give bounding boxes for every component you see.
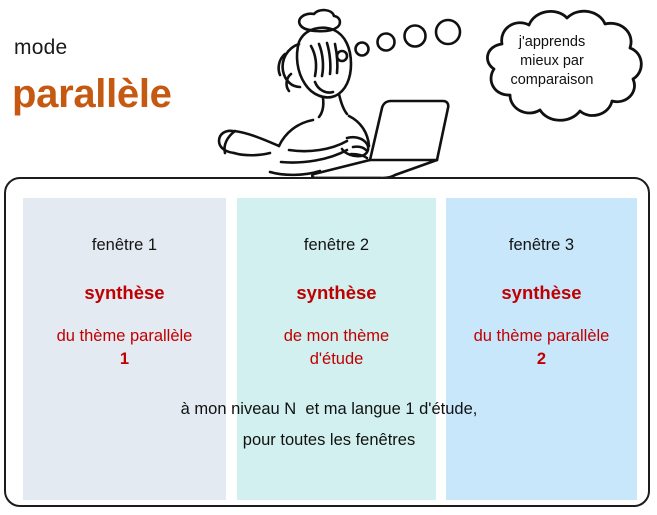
footer-note-line: à mon niveau N et ma langue 1 d'étude, xyxy=(6,394,652,425)
header-area: mode parallèle xyxy=(0,0,657,178)
column-heading: synthèse xyxy=(23,282,226,304)
thought-bubble-text: j'apprends mieux par comparaison xyxy=(472,33,632,90)
column-description: du thème parallèle 2 xyxy=(446,325,637,371)
column-description: du thème parallèle 1 xyxy=(23,325,226,371)
column-desc-line: du thème parallèle xyxy=(446,325,637,348)
thought-line: mieux par xyxy=(472,52,632,71)
column-desc-line: 1 xyxy=(23,348,226,371)
footer-note-line: pour toutes les fenêtres xyxy=(6,425,652,456)
mode-label: mode xyxy=(14,36,67,60)
column-desc-line: du thème parallèle xyxy=(23,325,226,348)
column-title: fenêtre 1 xyxy=(23,236,226,255)
column-desc-line: d'étude xyxy=(237,348,436,371)
column-title: fenêtre 3 xyxy=(446,236,637,255)
column-desc-line: de mon thème xyxy=(237,325,436,348)
column-heading: synthèse xyxy=(446,282,637,304)
columns-container: fenêtre 1 synthèse du thème parallèle 1 … xyxy=(6,179,652,509)
column-desc-line: 2 xyxy=(446,348,637,371)
mode-title: parallèle xyxy=(12,72,172,117)
windows-panel: fenêtre 1 synthèse du thème parallèle 1 … xyxy=(4,177,650,507)
column-title: fenêtre 2 xyxy=(237,236,436,255)
panel-footer-note: à mon niveau N et ma langue 1 d'étude, p… xyxy=(6,394,652,456)
thought-line: comparaison xyxy=(472,71,632,90)
column-heading: synthèse xyxy=(237,282,436,304)
thought-line: j'apprends xyxy=(472,33,632,52)
column-description: de mon thème d'étude xyxy=(237,325,436,371)
